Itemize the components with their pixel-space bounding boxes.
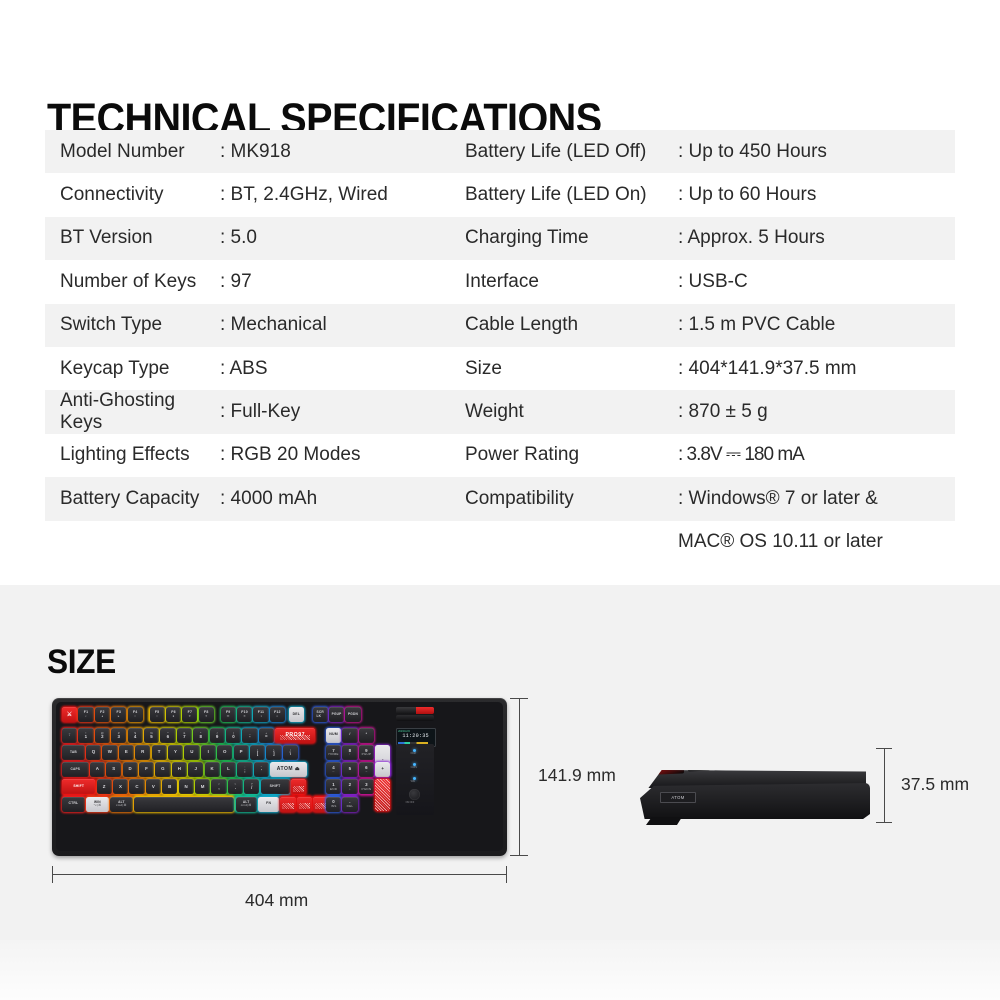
dim-width-tick-right (506, 866, 507, 883)
spec-label-2: Battery Life (LED Off) (465, 130, 678, 173)
key-numpad-1[interactable]: 1END (326, 779, 341, 794)
spec-value: : 5.0 (220, 217, 465, 260)
key-G[interactable]: G (155, 762, 170, 777)
control-knob[interactable] (409, 789, 420, 800)
spec-value-2: : 870 ± 5 g (678, 390, 940, 433)
table-row: Switch Type : Mechanical Cable Length : … (45, 304, 955, 347)
spec-label: Number of Keys (45, 260, 220, 303)
key-numpad-2[interactable]: 2↓ (342, 779, 357, 794)
key-F1[interactable]: F1♪ (78, 707, 93, 722)
roller-lower[interactable] (396, 715, 434, 721)
key-L[interactable]: L (221, 762, 236, 777)
indicator-led-num (413, 749, 416, 752)
key-num-11[interactable]: _- (242, 728, 257, 743)
product-spec-page: TECHNICAL SPECIFICATIONS Model Number : … (0, 0, 1000, 1000)
keyboard-foot (646, 817, 682, 825)
key-alt-left[interactable]: ALTcmd|⌘ (110, 797, 133, 812)
key-numpad-plus[interactable]: + (375, 762, 390, 777)
key-arrow-up[interactable] (291, 779, 306, 794)
volume-roller-red[interactable] (416, 707, 434, 714)
key-[interactable]: "' (254, 762, 269, 777)
dim-height-label: 141.9 mm (538, 765, 616, 786)
key-numpad-*[interactable]: * (359, 728, 374, 743)
key-num-4[interactable]: $4 (128, 728, 143, 743)
keyboard-plate: ⚔F1♪F2◂F3▸F4○F5○F6●F7☀F8✦F9✉F10✕F11◑F12◐… (56, 702, 503, 851)
key-numpad-4[interactable]: 4← (326, 762, 341, 777)
key-num-9[interactable]: (9 (210, 728, 225, 743)
lcd-date: 2023/11/15 (398, 730, 410, 733)
key-D[interactable]: D (123, 762, 138, 777)
key-numpad-0[interactable]: 0INS (326, 797, 341, 812)
key-num-0[interactable]: ~` (62, 728, 77, 743)
key-pgup[interactable]: PGUP (329, 707, 344, 722)
spec-value-2: : 1.5 m PVC Cable (678, 304, 940, 347)
key-numpad-num[interactable]: NUM (326, 728, 341, 743)
spec-value-continuation: MAC® OS 10.11 or later (678, 521, 883, 564)
spec-value: : BT, 2.4GHz, Wired (220, 173, 465, 216)
side-key (770, 755, 792, 769)
key-[interactable]: |\ (283, 745, 298, 760)
indicator-label: CAPS (411, 767, 417, 769)
key-F4[interactable]: F4○ (128, 707, 143, 722)
table-row-continuation: MAC® OS 10.11 or later (45, 521, 955, 564)
spec-value: : RGB 20 Modes (220, 434, 465, 477)
indicator-label: NUM (411, 753, 416, 755)
size-heading: SIZE (47, 643, 116, 682)
spec-value: : 4000 mAh (220, 477, 465, 520)
key-shift-left[interactable]: SHIFT (62, 779, 95, 794)
indicator-led-caps (413, 763, 416, 766)
key-numpad-dot[interactable]: .DEL (342, 797, 357, 812)
dim-depth-tick-bottom (876, 822, 892, 823)
spec-label-2: Compatibility (465, 477, 678, 520)
key-pgdn[interactable]: PGDN (345, 707, 360, 722)
key-F2[interactable]: F2◂ (95, 707, 110, 722)
keyboard-side-view-image: ATOM (640, 752, 870, 827)
key-numpad-7[interactable]: 7HOME (326, 745, 341, 760)
keyboard-top-view-image: ⚔F1♪F2◂F3▸F4○F5○F6●F7☀F8✦F9✉F10✕F11◑F12◐… (52, 698, 507, 856)
key-numpad-5[interactable]: 5 (342, 762, 357, 777)
key-J[interactable]: J (188, 762, 203, 777)
key-[interactable]: :; (237, 762, 252, 777)
key-space[interactable] (134, 797, 234, 812)
dim-width-tick-left (52, 866, 53, 883)
key-punct8[interactable]: >. (228, 779, 243, 794)
side-key (824, 753, 846, 767)
key-W[interactable]: W (102, 745, 117, 760)
key-F6[interactable]: F6● (166, 707, 181, 722)
key-num-8[interactable]: *8 (193, 728, 208, 743)
dim-width-line (52, 874, 507, 875)
key-M[interactable]: M (195, 779, 210, 794)
side-key (714, 756, 738, 770)
key-tab[interactable]: TAB (62, 745, 85, 760)
spec-label: Model Number (45, 130, 220, 173)
key-pro97[interactable]: PRO97 (275, 728, 315, 743)
section-fade (0, 940, 1000, 1000)
key-A[interactable]: A (90, 762, 105, 777)
table-row: Battery Capacity : 4000 mAh Compatibilit… (45, 477, 955, 520)
key-ctrl[interactable]: CTRL (62, 797, 85, 812)
key-numpad-8[interactable]: 8↑ (342, 745, 357, 760)
key-[interactable]: {[ (250, 745, 265, 760)
key-numpad-9[interactable]: 9PGUP (359, 745, 374, 760)
key-win[interactable]: WIN⌥|⌘ (86, 797, 109, 812)
table-row: Number of Keys : 97 Interface : USB-C (45, 260, 955, 303)
table-row: Anti-Ghosting Keys : Full-Key Weight : 8… (45, 390, 955, 433)
key-scrlk[interactable]: SCRLK (313, 707, 328, 722)
key-F10[interactable]: F10✕ (237, 707, 252, 722)
spec-label-2: Power Rating (465, 434, 678, 477)
dim-depth-label: 37.5 mm (901, 774, 969, 795)
key-F5[interactable]: F5○ (150, 707, 165, 722)
spec-value-2: : 3.8V ⎓ 180 mA (678, 434, 940, 477)
spec-label-2: Charging Time (465, 217, 678, 260)
table-row: Connectivity : BT, 2.4GHz, Wired Battery… (45, 173, 955, 216)
key-del[interactable]: DEL (289, 707, 304, 722)
table-row: Keycap Type : ABS Size : 404*141.9*37.5 … (45, 347, 955, 390)
specifications-table: Model Number : MK918 Battery Life (LED O… (45, 130, 955, 564)
key-H[interactable]: H (172, 762, 187, 777)
key-P[interactable]: P (234, 745, 249, 760)
key-F3[interactable]: F3▸ (111, 707, 126, 722)
key-num-7[interactable]: &7 (177, 728, 192, 743)
atom-badge: ATOM (660, 792, 696, 803)
key-num-10[interactable]: )0 (226, 728, 241, 743)
spec-value: : Full-Key (220, 390, 465, 433)
key-N[interactable]: N (179, 779, 194, 794)
dim-height-line (519, 698, 520, 856)
key-[interactable]: }] (266, 745, 281, 760)
key-num-3[interactable]: #3 (111, 728, 126, 743)
spec-label: Anti-Ghosting Keys (45, 390, 220, 433)
brand-logo-key[interactable]: ⚔ (62, 707, 77, 722)
dim-depth-tick-top (876, 748, 892, 749)
spec-label: Lighting Effects (45, 434, 220, 477)
key-V[interactable]: V (146, 779, 161, 794)
key-I[interactable]: I (201, 745, 216, 760)
knob-labels: ON OFF (406, 802, 415, 804)
key-alt-right[interactable]: ALTcmd|⌘ (236, 797, 257, 812)
dim-depth-line (884, 748, 885, 823)
key-X[interactable]: X (113, 779, 128, 794)
spec-value: : MK918 (220, 130, 465, 173)
spec-label: Connectivity (45, 173, 220, 216)
spec-value: : 97 (220, 260, 465, 303)
key-punct7[interactable]: <, (211, 779, 226, 794)
key-C[interactable]: C (129, 779, 144, 794)
key-T[interactable]: T (152, 745, 167, 760)
key-numpad-enter[interactable] (375, 779, 390, 811)
spec-label: Battery Capacity (45, 477, 220, 520)
spec-label-2: Cable Length (465, 304, 678, 347)
spec-label: Keycap Type (45, 347, 220, 390)
key-Z[interactable]: Z (97, 779, 112, 794)
spec-value-2: : Approx. 5 Hours (678, 217, 940, 260)
key-F7[interactable]: F7☀ (182, 707, 197, 722)
key-Y[interactable]: Y (168, 745, 183, 760)
side-key (658, 760, 684, 774)
technical-specifications-section: TECHNICAL SPECIFICATIONS Model Number : … (0, 0, 1000, 585)
spec-value: : Mechanical (220, 304, 465, 347)
key-arrow-left[interactable] (280, 797, 295, 812)
key-F8[interactable]: F8✦ (199, 707, 214, 722)
key-numpad-/[interactable]: / (342, 728, 357, 743)
side-key (688, 758, 710, 772)
spec-label: BT Version (45, 217, 220, 260)
key-caps[interactable]: CAPS (62, 762, 89, 777)
side-key (796, 753, 820, 767)
key-num-12[interactable]: += (259, 728, 274, 743)
key-enter[interactable]: ATOM ⏏ (270, 762, 306, 777)
key-punct9[interactable]: ?/ (244, 779, 259, 794)
spec-value-2: : Up to 60 Hours (678, 173, 940, 216)
keyboard-side-body: ATOM (640, 783, 870, 819)
key-arrow-down[interactable] (297, 797, 312, 812)
spec-value-2: : USB-C (678, 260, 940, 303)
key-S[interactable]: S (106, 762, 121, 777)
spec-label-2: Weight (465, 390, 678, 433)
key-F11[interactable]: F11◑ (253, 707, 268, 722)
spec-label-2: Interface (465, 260, 678, 303)
side-key (742, 755, 766, 769)
spec-value-2: : Windows® 7 or later & (678, 477, 940, 520)
spec-label-2: Size (465, 347, 678, 390)
table-row: Lighting Effects : RGB 20 Modes Power Ra… (45, 434, 955, 477)
key-B[interactable]: B (162, 779, 177, 794)
key-num-1[interactable]: !1 (78, 728, 93, 743)
spec-label-2: Battery Life (LED On) (465, 173, 678, 216)
spec-label: Switch Type (45, 304, 220, 347)
table-row: BT Version : 5.0 Charging Time : Approx.… (45, 217, 955, 260)
indicator-led-win (413, 777, 416, 780)
key-U[interactable]: U (184, 745, 199, 760)
key-Q[interactable]: Q (86, 745, 101, 760)
spec-value-2: : 404*141.9*37.5 mm (678, 347, 940, 390)
key-num-6[interactable]: ^6 (160, 728, 175, 743)
key-fn[interactable]: FN (258, 797, 279, 812)
key-num-5[interactable]: %5 (144, 728, 159, 743)
key-E[interactable]: E (119, 745, 134, 760)
key-numpad-6[interactable]: 6→ (359, 762, 374, 777)
table-row: Model Number : MK918 Battery Life (LED O… (45, 130, 955, 173)
indicator-label: WIN (411, 781, 415, 783)
key-numpad-3[interactable]: 3PGDN (359, 779, 374, 794)
dim-height-tick-top (510, 698, 528, 699)
key-R[interactable]: R (135, 745, 150, 760)
spec-value: : ABS (220, 347, 465, 390)
lcd-time: 11:20:35 (402, 733, 429, 739)
key-num-2[interactable]: @2 (95, 728, 110, 743)
key-K[interactable]: K (205, 762, 220, 777)
key-O[interactable]: O (217, 745, 232, 760)
dim-width-label: 404 mm (245, 890, 308, 911)
spec-value-2: : Up to 450 Hours (678, 130, 940, 173)
key-shift-right[interactable]: SHIFT (261, 779, 290, 794)
key-F9[interactable]: F9✉ (221, 707, 236, 722)
key-F12[interactable]: F12◐ (270, 707, 285, 722)
key-F[interactable]: F (139, 762, 154, 777)
dim-height-tick-bottom (510, 855, 528, 856)
